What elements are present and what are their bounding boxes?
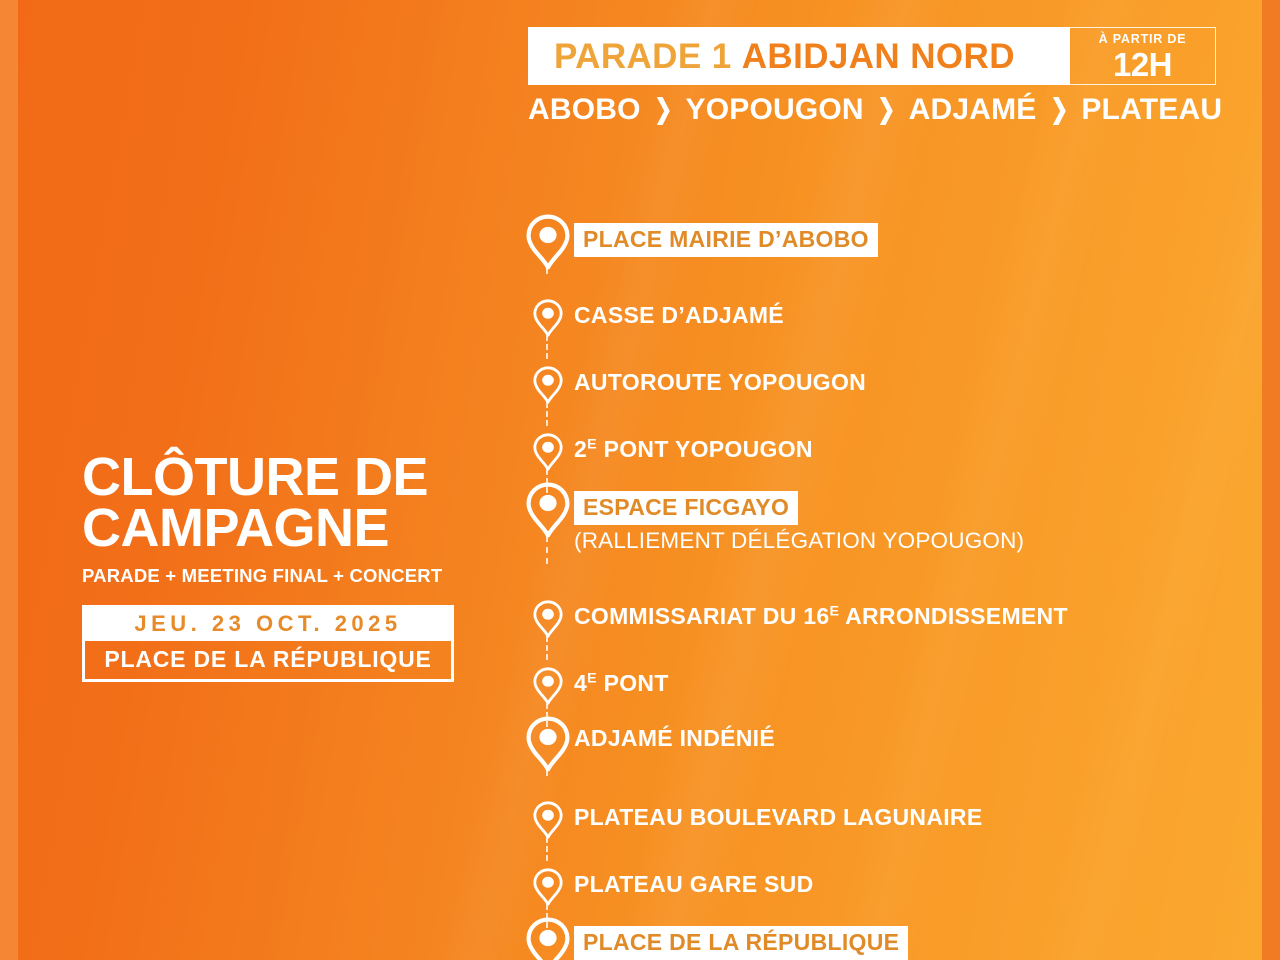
stop-text-block: COMMISSARIAT DU 16E ARRONDISSEMENT bbox=[574, 600, 1222, 630]
map-pin-minor bbox=[533, 801, 563, 844]
chevron-right-icon: ❯ bbox=[877, 96, 895, 123]
stop-text-block: PLATEAU BOULEVARD LAGUNAIRE bbox=[574, 801, 1222, 831]
start-time-badge: À PARTIR DE 12H bbox=[1070, 27, 1216, 85]
header: PARADE 1 ABIDJAN NORD À PARTIR DE 12H AB… bbox=[528, 27, 1216, 125]
route-town-1: ABOBO bbox=[528, 95, 641, 125]
stop-name: 2E PONT YOPOUGON bbox=[574, 436, 813, 463]
itinerary-stop[interactable]: CASSE D’ADJAMÉ bbox=[522, 299, 1222, 342]
route-town-2: YOPOUGON bbox=[686, 95, 864, 125]
map-pin-minor bbox=[533, 868, 563, 911]
stop-name: COMMISSARIAT DU 16E ARRONDISSEMENT bbox=[574, 603, 1068, 630]
itinerary-stop[interactable]: PLACE DE LA RÉPUBLIQUE bbox=[522, 917, 1222, 960]
stop-marker-column bbox=[522, 366, 574, 409]
map-pin-icon bbox=[533, 667, 563, 705]
map-pin-major bbox=[526, 716, 570, 777]
map-pin-icon bbox=[526, 917, 570, 960]
itinerary-stop[interactable]: PLATEAU BOULEVARD LAGUNAIRE bbox=[522, 801, 1222, 844]
itinerary-stop[interactable]: AUTOROUTE YOPOUGON bbox=[522, 366, 1222, 409]
chevron-right-icon: ❯ bbox=[654, 96, 672, 123]
event-date: JEU. 23 OCT. 2025 bbox=[85, 608, 451, 641]
event-venue: PLACE DE LA RÉPUBLIQUE bbox=[85, 641, 451, 679]
itinerary-list: PLACE MAIRIE D’ABOBOCASSE D’ADJAMÉAUTORO… bbox=[522, 214, 1222, 960]
stop-name: CASSE D’ADJAMÉ bbox=[574, 302, 784, 329]
itinerary-stop[interactable]: 2E PONT YOPOUGON bbox=[522, 433, 1222, 476]
map-pin-minor bbox=[533, 433, 563, 476]
title-parade-number: PARADE 1 bbox=[554, 37, 732, 76]
stop-text-block: AUTOROUTE YOPOUGON bbox=[574, 366, 1222, 396]
header-bar: PARADE 1 ABIDJAN NORD À PARTIR DE 12H bbox=[528, 27, 1216, 85]
stop-marker-column bbox=[522, 214, 574, 275]
route-summary: ABOBO ❯ YOPOUGON ❯ ADJAMÉ ❯ PLATEAU bbox=[528, 95, 1216, 125]
title-zone-name: ABIDJAN NORD bbox=[742, 37, 1015, 76]
map-pin-icon bbox=[533, 801, 563, 839]
stop-name: ESPACE FICGAYO bbox=[574, 491, 798, 525]
itinerary-stop[interactable]: PLACE MAIRIE D’ABOBO bbox=[522, 214, 1222, 275]
chevron-right-icon: ❯ bbox=[1050, 96, 1068, 123]
map-pin-minor bbox=[533, 299, 563, 342]
stop-name: ADJAMÉ INDÉNIÉ bbox=[574, 725, 775, 752]
stop-marker-column bbox=[522, 917, 574, 960]
route-town-3: ADJAMÉ bbox=[909, 95, 1037, 125]
map-pin-icon bbox=[533, 433, 563, 471]
map-pin-icon bbox=[526, 214, 570, 270]
stop-name: PLACE MAIRIE D’ABOBO bbox=[574, 223, 878, 257]
stop-name: AUTOROUTE YOPOUGON bbox=[574, 369, 866, 396]
left-edge-strip bbox=[0, 0, 18, 960]
itinerary-stop[interactable]: ADJAMÉ INDÉNIÉ bbox=[522, 716, 1222, 777]
stop-marker-column bbox=[522, 433, 574, 476]
page-title: PARADE 1 ABIDJAN NORD bbox=[554, 39, 1015, 74]
itinerary-stop[interactable]: 4E PONT bbox=[522, 667, 1222, 710]
event-title-line-2: CAMPAGNE bbox=[82, 503, 462, 554]
stop-marker-column bbox=[522, 299, 574, 342]
start-time-prefix: À PARTIR DE bbox=[1099, 33, 1187, 46]
stop-text-block: ESPACE FICGAYO(RALLIEMENT DÉLÉGATION YOP… bbox=[574, 482, 1222, 554]
stop-text-block: PLACE DE LA RÉPUBLIQUE bbox=[574, 917, 1222, 960]
right-edge-strip bbox=[1262, 0, 1280, 960]
stop-text-block: ADJAMÉ INDÉNIÉ bbox=[574, 716, 1222, 752]
stop-name: PLATEAU GARE SUD bbox=[574, 871, 814, 898]
stop-marker-column bbox=[522, 868, 574, 911]
stop-marker-column bbox=[522, 667, 574, 710]
map-pin-major bbox=[526, 214, 570, 275]
stop-name: PLACE DE LA RÉPUBLIQUE bbox=[574, 926, 908, 960]
stop-name: 4E PONT bbox=[574, 670, 669, 697]
itinerary-stop[interactable]: ESPACE FICGAYO(RALLIEMENT DÉLÉGATION YOP… bbox=[522, 482, 1222, 554]
map-pin-minor bbox=[533, 667, 563, 710]
map-pin-major bbox=[526, 917, 570, 960]
map-pin-icon bbox=[533, 299, 563, 337]
stop-marker-column bbox=[522, 600, 574, 643]
stop-text-block: PLACE MAIRIE D’ABOBO bbox=[574, 214, 1222, 257]
stop-text-block: 2E PONT YOPOUGON bbox=[574, 433, 1222, 463]
stop-text-block: CASSE D’ADJAMÉ bbox=[574, 299, 1222, 329]
event-subtitle: PARADE + MEETING FINAL + CONCERT bbox=[82, 565, 462, 587]
stop-text-block: PLATEAU GARE SUD bbox=[574, 868, 1222, 898]
header-title-box: PARADE 1 ABIDJAN NORD bbox=[528, 27, 1070, 85]
map-pin-icon bbox=[533, 366, 563, 404]
stop-note: (RALLIEMENT DÉLÉGATION YOPOUGON) bbox=[574, 527, 1222, 554]
poster-canvas: PARADE 1 ABIDJAN NORD À PARTIR DE 12H AB… bbox=[0, 0, 1280, 960]
itinerary-stop[interactable]: PLATEAU GARE SUD bbox=[522, 868, 1222, 911]
stop-marker-column bbox=[522, 482, 574, 543]
start-time-value: 12H bbox=[1113, 48, 1172, 81]
itinerary-stop[interactable]: COMMISSARIAT DU 16E ARRONDISSEMENT bbox=[522, 600, 1222, 643]
route-town-4: PLATEAU bbox=[1081, 95, 1222, 125]
map-pin-major bbox=[526, 482, 570, 543]
map-pin-icon bbox=[533, 600, 563, 638]
map-pin-icon bbox=[526, 482, 570, 538]
event-date-venue-block: JEU. 23 OCT. 2025 PLACE DE LA RÉPUBLIQUE bbox=[82, 605, 454, 682]
event-title-block: CLÔTURE DE CAMPAGNE PARADE + MEETING FIN… bbox=[82, 452, 462, 682]
stop-marker-column bbox=[522, 801, 574, 844]
map-pin-icon bbox=[526, 716, 570, 772]
event-title: CLÔTURE DE CAMPAGNE bbox=[82, 452, 462, 555]
stop-text-block: 4E PONT bbox=[574, 667, 1222, 697]
stop-marker-column bbox=[522, 716, 574, 777]
map-pin-icon bbox=[533, 868, 563, 906]
map-pin-minor bbox=[533, 600, 563, 643]
map-pin-minor bbox=[533, 366, 563, 409]
stop-name: PLATEAU BOULEVARD LAGUNAIRE bbox=[574, 804, 982, 831]
